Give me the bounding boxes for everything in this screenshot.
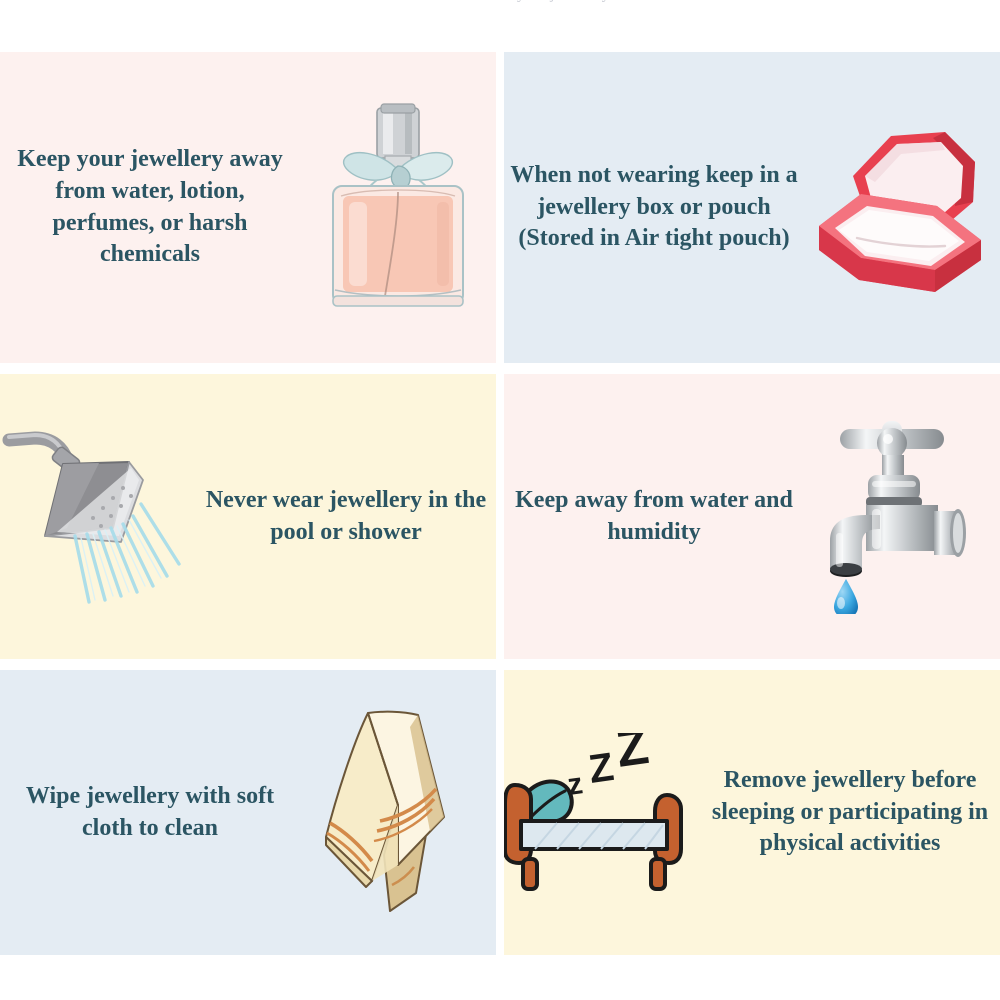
tip-text-avoid-water: Keep away from water and humidity bbox=[504, 485, 804, 549]
tip-text-no-pool-shower: Never wear jewellery in the pool or show… bbox=[196, 485, 496, 549]
tip-card-avoid-chemicals[interactable]: Keep your jewellery away from water, lot… bbox=[0, 52, 496, 363]
water-tap-icon bbox=[804, 374, 1000, 659]
tips-grid: Keep your jewellery away from water, lot… bbox=[0, 52, 1000, 955]
shower-head-icon bbox=[0, 374, 196, 659]
infographic-page: how to take care of your jewellery Keep … bbox=[0, 0, 1000, 1000]
tip-card-no-pool-shower[interactable]: Never wear jewellery in the pool or show… bbox=[0, 374, 496, 659]
jewellery-box-icon bbox=[804, 52, 1000, 363]
tip-text-avoid-chemicals: Keep your jewellery away from water, lot… bbox=[0, 144, 300, 272]
tip-text-store-in-box: When not wearing keep in a jewellery box… bbox=[504, 160, 804, 256]
cleaning-cloth-icon bbox=[300, 670, 496, 955]
top-caption-text: how to take care of your jewellery bbox=[0, 0, 1000, 4]
perfume-bottle-icon bbox=[300, 52, 496, 363]
tip-text-wipe-with-cloth: Wipe jewellery with soft cloth to clean bbox=[0, 781, 300, 845]
zzz-medium: Z bbox=[586, 744, 616, 791]
top-caption-strip: how to take care of your jewellery bbox=[0, 0, 1000, 10]
tip-card-remove-before-sleep[interactable]: Remove jewellery before sleeping or part… bbox=[504, 670, 1000, 955]
tip-card-avoid-water[interactable]: Keep away from water and humidity bbox=[504, 374, 1000, 659]
sleeping-bed-icon: z Z Z bbox=[504, 670, 700, 955]
zzz-large: Z bbox=[613, 733, 653, 779]
tip-text-remove-before-sleep: Remove jewellery before sleeping or part… bbox=[700, 765, 1000, 861]
tip-card-store-in-box[interactable]: When not wearing keep in a jewellery box… bbox=[504, 52, 1000, 363]
tip-card-wipe-with-cloth[interactable]: Wipe jewellery with soft cloth to clean bbox=[0, 670, 496, 955]
zzz-small: z bbox=[565, 767, 584, 802]
